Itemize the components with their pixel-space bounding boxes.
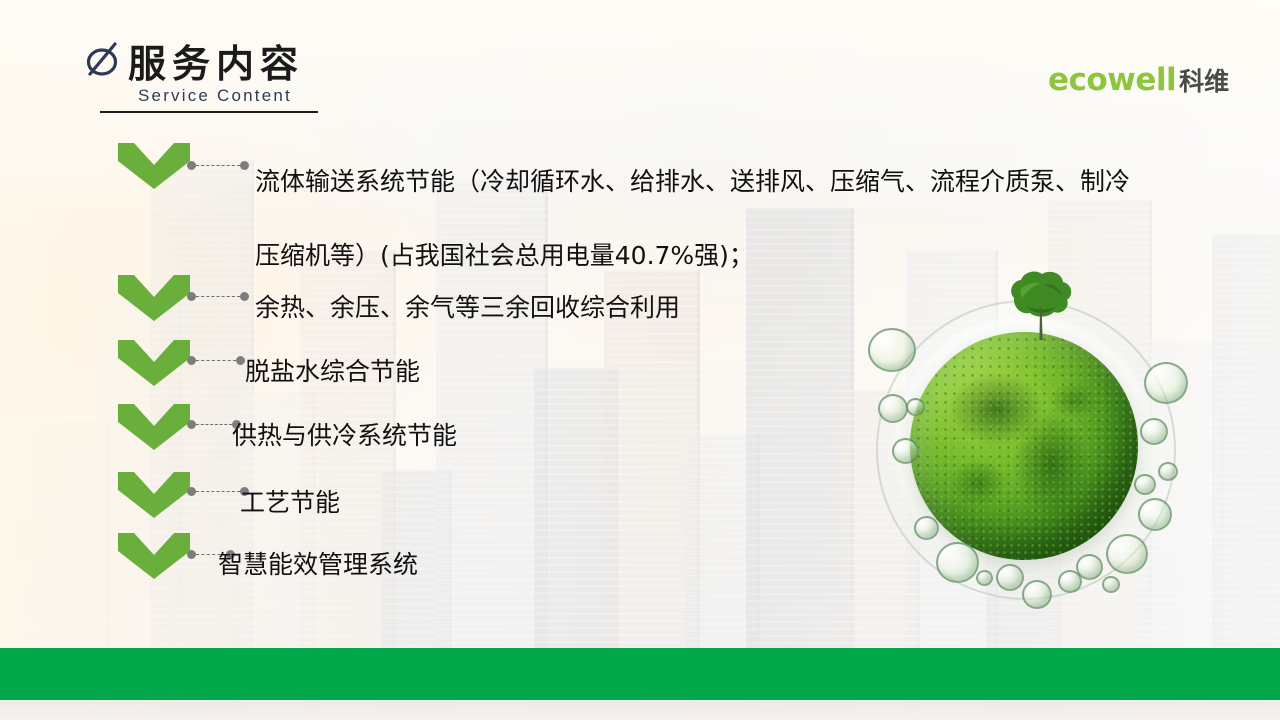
footer-strip <box>0 700 1280 720</box>
page-subtitle: Service Content <box>138 86 292 106</box>
connector-dot <box>187 550 196 559</box>
bullet-connector <box>187 355 245 365</box>
bubble <box>936 542 979 583</box>
connector-dot <box>240 292 249 301</box>
bullet-text-2: 余热、余压、余气等三余回收综合利用 <box>255 277 680 339</box>
bubble <box>1022 580 1052 609</box>
bubble <box>914 516 939 540</box>
bullet-text-3: 脱盐水综合节能 <box>245 341 420 403</box>
green-globe-artwork <box>862 262 1212 644</box>
connector-dash <box>196 360 236 361</box>
connector-dash <box>196 165 240 166</box>
chevron-down-icon-1 <box>118 143 190 189</box>
globe-sphere <box>910 332 1138 560</box>
page-title: 服务内容 <box>128 33 304 88</box>
bubble <box>906 398 925 416</box>
bubble <box>1144 362 1188 404</box>
chevron-down-icon-5 <box>118 472 190 518</box>
connector-dot <box>187 161 196 170</box>
connector-dot <box>187 420 196 429</box>
connector-dash <box>196 491 240 492</box>
bubble <box>976 570 993 586</box>
chevron-down-icon-6 <box>118 533 190 579</box>
connector-dot <box>187 356 196 365</box>
bubble <box>892 438 919 464</box>
bubble <box>996 564 1024 591</box>
connector-dot <box>187 487 196 496</box>
bullet-text-5: 工艺节能 <box>240 472 340 534</box>
slide-canvas: 服务内容 Service Content ecowell 科维 流体输送系统节能… <box>0 0 1280 720</box>
bullet-connector <box>187 160 249 170</box>
connector-dot <box>187 292 196 301</box>
bubble <box>1158 462 1178 481</box>
logo-chinese-text: 科维 <box>1179 62 1229 98</box>
title-underline <box>100 111 318 113</box>
chevron-down-icon-3 <box>118 340 190 386</box>
logo-english-text: ecowell <box>1048 62 1176 98</box>
bullet-text-4: 供热与供冷系统节能 <box>232 405 457 467</box>
bubble <box>1140 418 1168 445</box>
bubble <box>1138 498 1172 531</box>
bullet-connector <box>187 291 249 301</box>
connector-dot <box>240 161 249 170</box>
bubble <box>1134 474 1156 495</box>
bubble <box>878 394 908 423</box>
chevron-down-icon-2 <box>118 275 190 321</box>
connector-dot <box>236 356 245 365</box>
chevron-down-icon-4 <box>118 404 190 450</box>
bubble <box>868 328 916 372</box>
connector-dash <box>196 424 232 425</box>
tree-icon <box>1002 268 1080 342</box>
bullet-text-6: 智慧能效管理系统 <box>218 534 418 596</box>
bubble <box>1102 576 1120 593</box>
connector-dash <box>196 296 240 297</box>
bubble <box>1076 554 1103 580</box>
bubble <box>1106 534 1148 574</box>
slashed-circle-icon <box>84 38 122 80</box>
brand-logo: ecowell 科维 <box>1048 62 1229 98</box>
footer-accent-bar <box>0 648 1280 700</box>
